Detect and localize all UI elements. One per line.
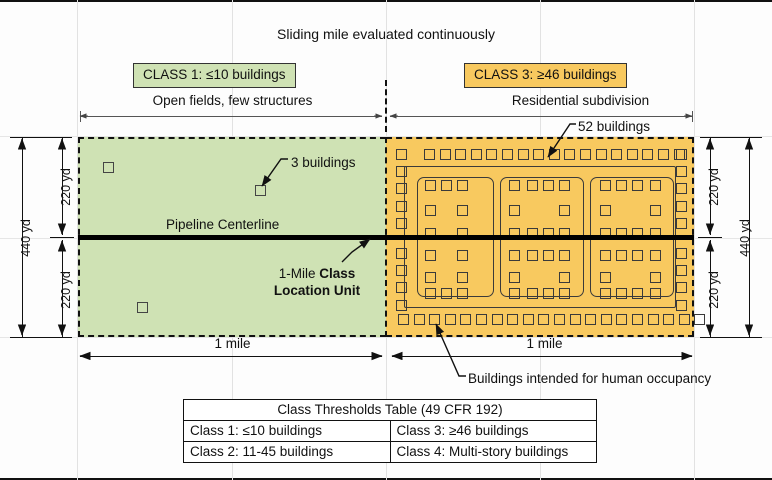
building-marker (527, 288, 538, 299)
building-marker (492, 314, 503, 325)
building-marker (445, 314, 456, 325)
mile-label-right: 1 mile (442, 336, 647, 351)
header-span-right (390, 116, 692, 117)
table-row: Class Thresholds Table (49 CFR 192) (184, 400, 597, 421)
building-marker (632, 180, 643, 191)
building-marker (509, 272, 520, 283)
building-marker (527, 250, 538, 261)
top-caption: Sliding mile evaluated continuously (0, 26, 772, 42)
building-marker (694, 314, 705, 325)
dim-cap (700, 137, 762, 138)
building-marker (676, 265, 687, 276)
table-title: Class Thresholds Table (49 CFR 192) (184, 400, 597, 421)
building-marker (676, 201, 687, 212)
building-marker (460, 314, 471, 325)
building-marker (543, 250, 554, 261)
building-marker (559, 288, 570, 299)
building-marker (457, 205, 468, 216)
building-marker (676, 166, 687, 177)
building-marker (457, 250, 468, 261)
building-marker (676, 149, 687, 160)
building-marker (559, 272, 570, 283)
building-marker (676, 248, 687, 259)
building-marker (549, 149, 560, 160)
building-marker (425, 288, 436, 299)
building-marker (533, 149, 544, 160)
sliding-mile-divider (385, 80, 387, 132)
mile-label-left: 1 mile (130, 336, 335, 351)
building-marker (457, 180, 468, 191)
building-marker (471, 149, 482, 160)
building-marker (425, 250, 436, 261)
building-marker (396, 201, 407, 212)
building-marker (137, 302, 148, 313)
dim-label-left-440: 440 yd (19, 208, 33, 268)
building-marker (538, 314, 549, 325)
table-row: Class 1: ≤10 buildings Class 3: ≥46 buil… (184, 421, 597, 442)
building-marker (650, 205, 661, 216)
building-marker (523, 314, 534, 325)
building-marker (650, 250, 661, 261)
building-marker (658, 149, 669, 160)
building-marker (650, 272, 661, 283)
table-cell-class3: Class 3: ≥46 buildings (390, 421, 597, 442)
annotation-52-buildings: 52 buildings (578, 119, 650, 134)
diagram-canvas: Sliding mile evaluated continuously CLAS… (0, 0, 772, 480)
building-marker (103, 162, 114, 173)
dim-cap (700, 337, 762, 338)
building-marker (486, 149, 497, 160)
building-marker (509, 180, 520, 191)
pipeline-centerline-label: Pipeline Centerline (166, 217, 279, 232)
building-marker (650, 288, 661, 299)
building-marker (396, 248, 407, 259)
building-marker (616, 314, 627, 325)
building-marker (611, 149, 622, 160)
annotation-occupancy: Buildings intended for human occupancy (468, 371, 711, 386)
building-marker (580, 149, 591, 160)
class1-subtitle: Open fields, few structures (130, 93, 335, 108)
mile-dimension-right (392, 356, 692, 357)
building-marker (554, 314, 565, 325)
dim-label-right-220-upper: 220 yd (707, 157, 721, 217)
building-marker (559, 250, 570, 261)
building-marker (509, 288, 520, 299)
building-marker (564, 149, 575, 160)
building-marker (396, 282, 407, 293)
building-marker (509, 205, 520, 216)
mile-dimension-left (80, 356, 382, 357)
building-marker (600, 205, 611, 216)
building-marker (600, 180, 611, 191)
building-marker (455, 149, 466, 160)
building-marker (543, 288, 554, 299)
table-cell-class1: Class 1: ≤10 buildings (184, 421, 391, 442)
dim-cap (10, 137, 72, 138)
building-marker (676, 282, 687, 293)
table-row: Class 2: 11-45 buildings Class 4: Multi-… (184, 442, 597, 463)
building-marker (679, 314, 690, 325)
building-marker (255, 185, 266, 196)
header-span-tick (692, 111, 693, 122)
building-marker (676, 218, 687, 229)
building-marker (425, 272, 436, 283)
building-marker (440, 149, 451, 160)
building-marker (396, 166, 407, 177)
building-marker (585, 314, 596, 325)
building-marker (596, 149, 607, 160)
building-marker (507, 314, 518, 325)
dim-label-left-220-upper: 220 yd (59, 157, 73, 217)
building-marker (559, 205, 570, 216)
building-marker (509, 250, 520, 261)
table-cell-class2: Class 2: 11-45 buildings (184, 442, 391, 463)
building-marker (396, 300, 407, 311)
building-marker (543, 180, 554, 191)
building-marker (441, 288, 452, 299)
dim-cap (10, 337, 72, 338)
class-thresholds-table: Class Thresholds Table (49 CFR 192) Clas… (183, 399, 597, 463)
building-marker (396, 265, 407, 276)
pipeline-centerline (78, 235, 694, 240)
table-cell-class4: Class 4: Multi-story buildings (390, 442, 597, 463)
building-marker (476, 314, 487, 325)
building-marker (600, 272, 611, 283)
header-span-tick (80, 111, 81, 122)
building-marker (642, 149, 653, 160)
building-marker (570, 314, 581, 325)
building-marker (425, 180, 436, 191)
building-marker (600, 288, 611, 299)
gridline-vertical (694, 0, 695, 480)
annotation-3-buildings: 3 buildings (291, 155, 356, 170)
building-marker (398, 314, 409, 325)
building-marker (396, 218, 407, 229)
building-marker (559, 180, 570, 191)
building-marker (663, 314, 674, 325)
annotation-class-location-unit: 1-Mile Class Location Unit (262, 265, 372, 300)
dim-cap (50, 237, 74, 238)
building-marker (424, 149, 435, 160)
dim-label-right-440: 440 yd (738, 208, 752, 268)
building-marker (425, 205, 436, 216)
building-marker (457, 272, 468, 283)
building-marker (676, 300, 687, 311)
building-marker (457, 288, 468, 299)
header-span-left (80, 116, 382, 117)
class3-badge: CLASS 3: ≥46 buildings (464, 63, 627, 88)
building-marker (616, 288, 627, 299)
building-marker (648, 314, 659, 325)
building-marker (632, 288, 643, 299)
building-marker (600, 250, 611, 261)
building-marker (632, 250, 643, 261)
dim-cap (698, 237, 722, 238)
building-marker (650, 180, 661, 191)
building-marker (502, 149, 513, 160)
building-marker (616, 250, 627, 261)
dim-label-left-220-lower: 220 yd (59, 260, 73, 320)
building-marker (676, 183, 687, 194)
class1-badge: CLASS 1: ≤10 buildings (133, 63, 296, 88)
gridline-horizontal (0, 337, 772, 338)
class3-subtitle: Residential subdivision (478, 93, 683, 108)
building-marker (518, 149, 529, 160)
building-marker (429, 314, 440, 325)
building-marker (414, 314, 425, 325)
building-marker (616, 180, 627, 191)
building-marker (632, 314, 643, 325)
building-marker (396, 183, 407, 194)
dim-label-right-220-lower: 220 yd (707, 260, 721, 320)
clu-prefix: 1-Mile (279, 266, 320, 281)
building-marker (627, 149, 638, 160)
building-marker (441, 180, 452, 191)
building-marker (527, 180, 538, 191)
building-marker (396, 149, 407, 160)
building-marker (601, 314, 612, 325)
